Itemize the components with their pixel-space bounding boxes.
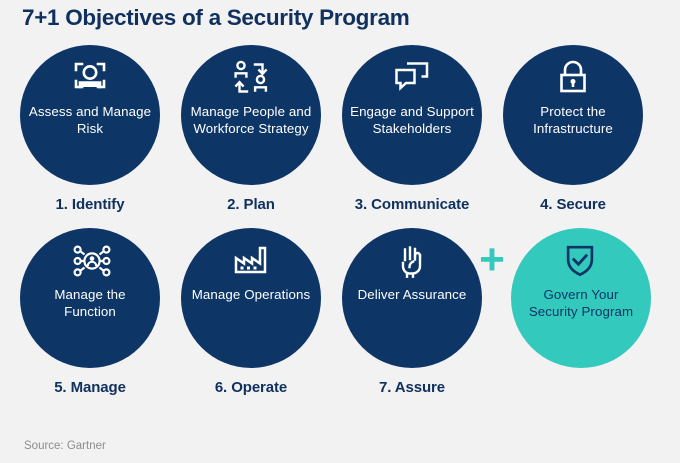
objective-card-5[interactable]: Manage the Function 5. Manage — [9, 228, 171, 413]
objective-step-label-1: 1. Identify — [9, 196, 171, 213]
shield-check-icon — [561, 241, 601, 281]
objective-text-7: Deliver Assurance — [350, 286, 474, 303]
objective-step-label-5: 5. Manage — [9, 379, 171, 396]
padlock-icon — [553, 58, 593, 98]
infographic-root: 7+1 Objectives of a Security Program Ass… — [0, 0, 680, 463]
objective-text-6: Manage Operations — [189, 286, 313, 303]
objective-circle-2[interactable]: Manage People and Workforce Strategy — [181, 45, 321, 185]
objective-step-label-4: 4. Secure — [492, 196, 654, 213]
objective-circle-5[interactable]: Manage the Function — [20, 228, 160, 368]
objective-step-label-3: 3. Communicate — [331, 196, 493, 213]
network-nodes-icon — [70, 241, 110, 281]
objective-step-label-2: 2. Plan — [170, 196, 332, 213]
objective-text-plus-one: Govern Your Security Program — [519, 286, 643, 320]
objective-text-1: Assess and Manage Risk — [28, 103, 152, 137]
objectives-grid: Assess and Manage Risk 1. Identify — [0, 45, 680, 430]
objective-circle-3[interactable]: Engage and Support Stakeholders — [342, 45, 482, 185]
page-title: 7+1 Objectives of a Security Program — [22, 5, 410, 31]
objective-card-2[interactable]: Manage People and Workforce Strategy 2. … — [170, 45, 332, 230]
objective-card-3[interactable]: Engage and Support Stakeholders 3. Commu… — [331, 45, 493, 230]
objective-text-2: Manage People and Workforce Strategy — [189, 103, 313, 137]
objective-step-label-6: 6. Operate — [170, 379, 332, 396]
objective-text-5: Manage the Function — [28, 286, 152, 320]
plus-sign: + — [477, 245, 507, 275]
objective-card-4[interactable]: Protect the Infrastructure 4. Secure — [492, 45, 654, 230]
objective-card-plus-one[interactable]: Govern Your Security Program — [492, 228, 654, 413]
people-exchange-icon — [231, 58, 271, 98]
factory-icon — [231, 241, 271, 281]
objective-circle-plus-one[interactable]: Govern Your Security Program — [511, 228, 651, 368]
objective-circle-7[interactable]: Deliver Assurance — [342, 228, 482, 368]
objective-card-1[interactable]: Assess and Manage Risk 1. Identify — [9, 45, 171, 230]
objective-text-3: Engage and Support Stakeholders — [350, 103, 474, 137]
objective-card-7[interactable]: Deliver Assurance 7. Assure — [331, 228, 493, 413]
objective-circle-4[interactable]: Protect the Infrastructure — [503, 45, 643, 185]
person-scan-icon — [70, 58, 110, 98]
objective-text-4: Protect the Infrastructure — [511, 103, 635, 137]
objective-step-label-7: 7. Assure — [331, 379, 493, 396]
objective-circle-1[interactable]: Assess and Manage Risk — [20, 45, 160, 185]
source-attribution: Source: Gartner — [24, 440, 106, 452]
objective-circle-6[interactable]: Manage Operations — [181, 228, 321, 368]
raised-hand-icon — [392, 241, 432, 281]
objective-card-6[interactable]: Manage Operations 6. Operate — [170, 228, 332, 413]
speech-bubbles-icon — [392, 58, 432, 98]
